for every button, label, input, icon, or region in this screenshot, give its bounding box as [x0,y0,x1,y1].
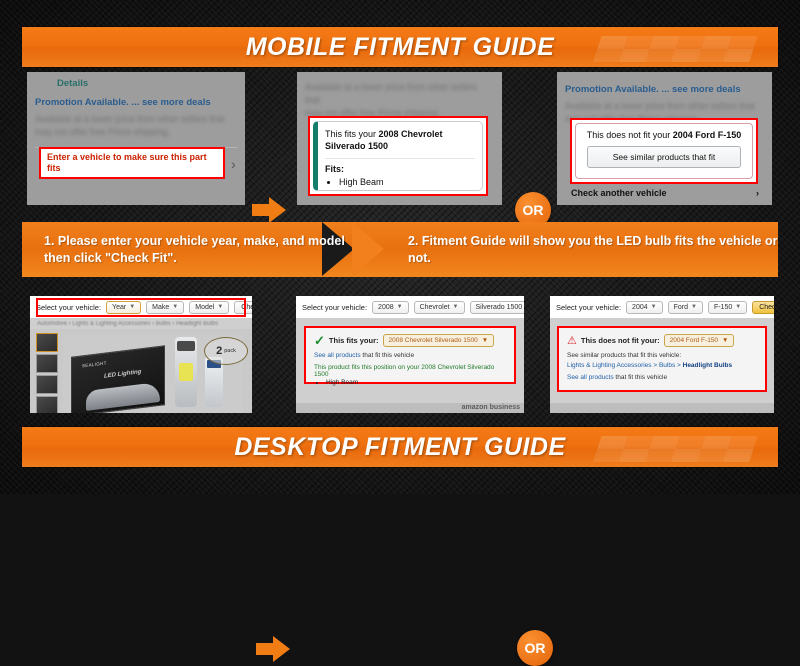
fits-list: High Beam [325,176,475,188]
not-fits-card-highlight: This does not fit your 2004 Ford F-150 S… [570,118,758,184]
mobile-screenshot-enter-vehicle: Details Promotion Available. ... see mor… [27,72,245,205]
details-heading: Details [57,78,237,89]
instruction-steps-band: 1. Please enter your vehicle year, make,… [0,222,800,277]
blurred-offer-line1: Available at a lower price from other se… [35,114,224,124]
selected-vehicle-value: 2004 Ford F-150 [670,337,718,344]
pack-count: 2 [216,345,222,357]
make-value: Chevrolet [420,304,450,311]
see-all-products-link[interactable]: See all products [314,352,361,359]
see-all-products-rest: that fit this vehicle [614,374,667,381]
mobile-banner-title: MOBILE FITMENT GUIDE [246,33,555,62]
see-similar-products-button[interactable]: See similar products that fit [587,146,741,168]
desktop-screenshot-not-fits: Select your vehicle: 2004▼ Ford▼ F-150▼ … [550,296,774,413]
chevron-down-icon: ▼ [735,304,741,310]
model-dropdown[interactable]: F-150▼ [708,301,747,314]
desktop-screenshot-fits: Select your vehicle: 2008▼ Chevrolet▼ Si… [296,296,524,413]
breadcrumb-prefix: Lights & Lighting Accessories > Bulbs > [567,362,683,369]
chevron-down-icon: ▼ [482,337,488,344]
blurred-offer-text: Available at a lower price from other se… [35,113,237,139]
thumbnail[interactable] [36,333,58,352]
step-2-text: 2. Fitment Guide will show you the LED b… [408,233,778,267]
step-1: 1. Please enter your vehicle year, make,… [22,222,352,277]
chevron-down-icon: ▼ [397,304,403,310]
not-fits-headline-row: ⚠ This does not fit your: 2004 Ford F-15… [567,334,757,347]
step-1-text: 1. Please enter your vehicle year, make,… [44,233,352,267]
breadcrumb: Automotive › Lights & Lighting Accessori… [37,321,252,327]
desktop-screenshot-select-vehicle: Select your vehicle: Year▼ Make▼ Model▼ … [30,296,252,413]
desktop-banner: DESKTOP FITMENT GUIDE [22,427,778,467]
chevron-right-icon[interactable]: › [231,156,236,172]
year-dropdown[interactable]: 2008▼ [372,301,409,314]
model-dropdown[interactable]: Silverado 1500▼ [470,301,525,314]
fits-label: This fits your: [329,336,379,345]
or-label: OR [523,202,544,218]
or-label: OR [525,640,546,656]
chevron-down-icon: ▼ [691,304,697,310]
chevron-down-icon: ▼ [453,304,459,310]
list-item: High Beam [326,379,506,386]
fit-position-block: This product fits this position on your … [314,364,506,386]
fits-card: This fits your 2008 Chevrolet Silverado … [313,121,483,191]
year-dropdown[interactable]: 2004▼ [626,301,663,314]
enter-vehicle-prompt[interactable]: Enter a vehicle to make sure this part f… [39,147,225,179]
blurred-offer-line1: Available at a lower price from other se… [305,82,477,105]
blurred-offer-line2: may not offer free Prime shipping. [35,127,170,137]
fitment-result-area: ✓ This fits your: 2008 Chevrolet Silvera… [296,318,524,413]
selected-vehicle-value: 2008 Chevrolet Silverado 1500 [389,337,478,344]
see-all-products-link[interactable]: See all products [567,374,614,381]
promotion-link[interactable]: Promotion Available. ... see more deals [565,84,764,95]
step-2: 2. Fitment Guide will show you the LED b… [352,222,778,277]
chevron-down-icon: ▼ [722,337,728,344]
panel-footer-bar [550,403,774,413]
arrow-right-icon [256,636,290,662]
see-all-products-row: See all products that fit this vehicle [314,352,506,359]
not-fits-label: This does not fit your: [581,336,660,345]
fit-position-text: This product fits this position on your … [314,364,494,378]
selector-highlight-box [36,298,246,317]
chevron-right-icon: › [756,188,759,198]
year-value: 2004 [632,304,648,311]
desktop-banner-title: DESKTOP FITMENT GUIDE [234,433,565,462]
check-mark-icon: ✓ [314,336,325,346]
not-fits-headline: This does not fit your 2004 Ford F-150 [584,130,744,140]
breadcrumb-leaf: Headlight Bulbs [683,362,732,369]
make-dropdown[interactable]: Chevrolet▼ [414,301,465,314]
fits-result-highlight: ✓ This fits your: 2008 Chevrolet Silvera… [304,326,516,384]
chevron-down-icon: ▼ [651,304,657,310]
two-pack-badge: 2 pack [204,337,248,365]
mobile-banner: MOBILE FITMENT GUIDE [22,27,778,67]
fitment-result-area: ⚠ This does not fit your: 2004 Ford F-15… [550,318,774,413]
see-similar-text: See similar products that fit this vehic… [567,352,757,359]
vehicle-selector-bar: Select your vehicle: 2008▼ Chevrolet▼ Si… [296,296,524,318]
amazon-business-watermark: amazon business [462,404,520,411]
see-all-products-rest: that fit this vehicle [361,352,414,359]
checker-pattern-secondary-icon [562,427,778,467]
see-all-products-row: See all products that fit this vehicle [567,374,757,381]
divider [325,158,475,159]
blurred-offer-line1: Available at a lower price from other se… [565,101,754,111]
year-value: 2008 [378,304,394,311]
pack-label: pack [224,348,236,354]
fits-headline: This fits your 2008 Chevrolet Silverado … [325,128,475,152]
checker-pattern-secondary-icon [562,27,778,67]
fits-card-highlight: This fits your 2008 Chevrolet Silverado … [308,116,488,196]
make-dropdown[interactable]: Ford▼ [668,301,703,314]
warning-triangle-icon: ⚠ [567,336,577,346]
check-another-vehicle-label: Check another vehicle [571,188,667,198]
product-gallery: SEALIGHT LED Lighting 2 pack [30,329,252,413]
mobile-panels-row: Details Promotion Available. ... see mor… [0,72,800,207]
thumbnail[interactable] [36,354,58,373]
make-value: Ford [674,304,688,311]
model-value: F-150 [714,304,732,311]
selected-vehicle-dropdown[interactable]: 2008 Chevrolet Silverado 1500▼ [383,334,495,347]
promotion-link[interactable]: Promotion Available. ... see more deals [35,97,237,108]
car-illustration [86,382,160,411]
list-item: High Beam [339,176,475,188]
desktop-panels-row: Select your vehicle: Year▼ Make▼ Model▼ … [0,296,800,418]
mobile-screenshot-fits: Available at a lower price from other se… [297,72,502,205]
model-value: Silverado 1500 [476,304,523,311]
fitment-guide-infographic: MOBILE FITMENT GUIDE Details Promotion A… [0,0,800,494]
fits-prefix: This fits your [325,129,379,139]
or-badge-desktop: OR [517,630,553,666]
box-text-label: LED Lighting [104,369,141,380]
check-another-vehicle-row[interactable]: Check another vehicle › [571,188,759,198]
thumbnail[interactable] [36,396,58,413]
select-vehicle-label: Select your vehicle: [556,303,621,312]
not-fits-prefix: This does not fit your [587,130,673,140]
not-fits-result-highlight: ⚠ This does not fit your: 2004 Ford F-15… [557,326,767,392]
not-fits-vehicle: 2004 Ford F-150 [673,130,742,140]
not-fits-card: This does not fit your 2004 Ford F-150 S… [575,123,753,179]
box-brand-label: SEALIGHT [82,360,107,368]
fits-label: Fits: [325,164,475,174]
thumbnail[interactable] [36,375,58,394]
category-breadcrumb-link[interactable]: Lights & Lighting Accessories > Bulbs > … [567,362,757,369]
thumbnail-strip[interactable] [36,333,56,413]
arrow-right-icon [252,197,286,223]
blurred-offer-text: Available at a lower price from other se… [305,81,494,120]
led-bulb-image-1 [175,337,197,407]
mobile-screenshot-not-fits: Promotion Available. ... see more deals … [557,72,772,205]
fits-headline-row: ✓ This fits your: 2008 Chevrolet Silvera… [314,334,506,347]
enter-vehicle-label: Enter a vehicle to make sure this part f… [47,152,217,174]
fit-position-list: High Beam [314,379,506,386]
product-box-image: SEALIGHT LED Lighting [71,345,165,413]
vehicle-selector-bar: Select your vehicle: 2004▼ Ford▼ F-150▼ … [550,296,774,318]
check-fit-button[interactable]: Check Fit [752,301,774,314]
step-arrow-notch [352,222,384,276]
selected-vehicle-dropdown[interactable]: 2004 Ford F-150▼ [664,334,735,347]
select-vehicle-label: Select your vehicle: [302,303,367,312]
